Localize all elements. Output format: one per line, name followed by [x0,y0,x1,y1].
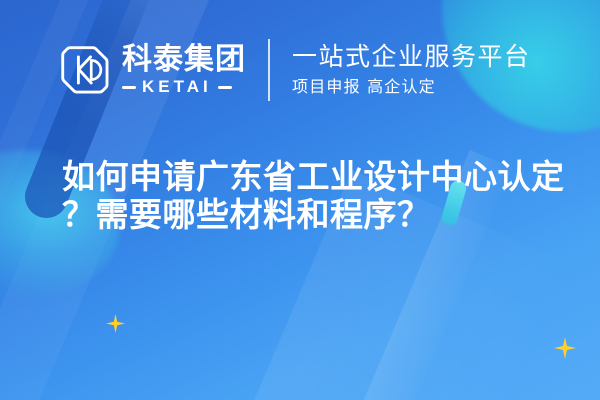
tagline-sub: 项目申报 高企认定 [292,76,531,98]
headline-line-1: 如何申请广东省工业设计中心认定 [62,158,562,196]
ketai-diamond-kd-logo-icon [58,43,112,97]
headline-block: 如何申请广东省工业设计中心认定 ？需要哪些材料和程序？ [62,158,562,234]
brand-rule-left [122,86,136,89]
headline-line-2: ？需要哪些材料和程序？ [62,196,562,234]
four-point-star-icon [106,314,125,333]
brand-rule-right [218,86,232,89]
brand-name-en-row: KETAI [122,78,246,96]
brand-name-cn: 科泰集团 [122,44,246,76]
brand-text-block: 科泰集团 KETAI [122,41,246,99]
brand-name-en: KETAI [142,78,212,96]
four-point-star-icon [554,337,576,359]
promo-banner: 科泰集团 KETAI 一站式企业服务平台 项目申报 高企认定 如何申请广东省工业… [0,0,600,400]
tagline-main: 一站式企业服务平台 [292,42,531,72]
banner-header: 科泰集团 KETAI 一站式企业服务平台 项目申报 高企认定 [0,0,600,140]
brand-tagline-divider [268,39,270,101]
tagline-block: 一站式企业服务平台 项目申报 高企认定 [292,38,531,102]
brand-lockup: 科泰集团 KETAI [58,38,246,102]
